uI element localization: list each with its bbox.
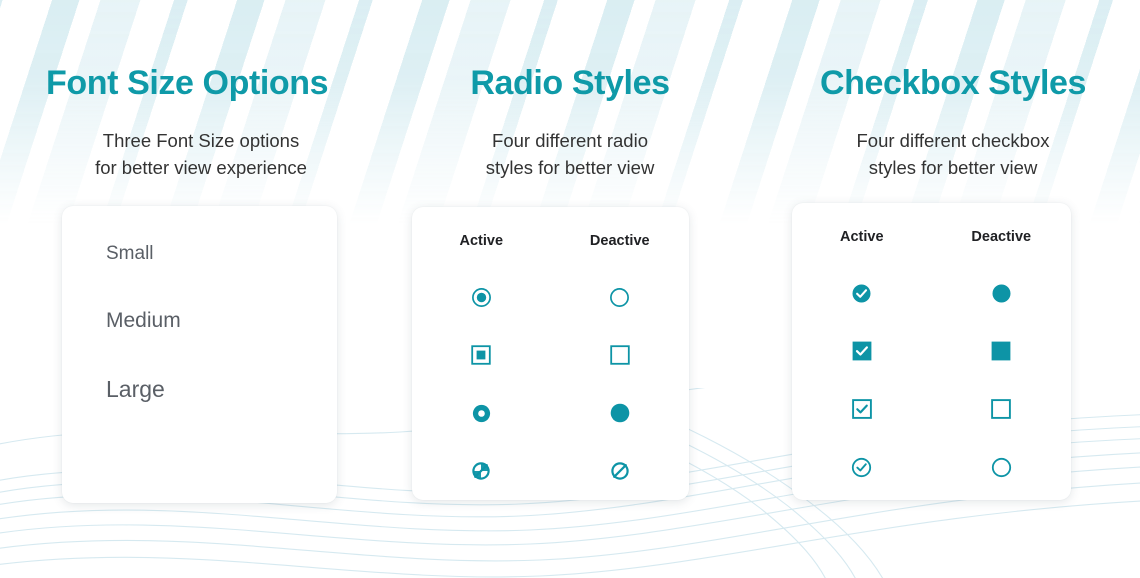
checkbox-style-4-deactive-cell[interactable] xyxy=(932,441,1072,499)
checkbox-style-4-active-cell[interactable] xyxy=(792,441,932,499)
circle-filled-icon[interactable] xyxy=(991,283,1012,304)
column-header-deactive: Deactive xyxy=(932,229,1072,267)
subtitle-font-size: Three Font Size options for better view … xyxy=(44,128,380,181)
radio-style-1-active-cell[interactable] xyxy=(412,271,551,329)
subtitle-checkbox-styles: Four different checkbox styles for bette… xyxy=(792,128,1140,181)
table-header-row: Active Deactive xyxy=(792,229,1071,267)
checkbox-style-3-active-cell[interactable] xyxy=(792,383,932,441)
check-square-outline-icon[interactable] xyxy=(852,399,872,419)
table-row xyxy=(792,441,1071,499)
radio-donut-filled-icon[interactable] xyxy=(471,403,492,424)
column-font-size-options: Font Size Options Three Font Size option… xyxy=(0,0,380,578)
radio-square-empty-icon[interactable] xyxy=(610,345,630,365)
column-checkbox-styles: Checkbox Styles Four different checkbox … xyxy=(760,0,1140,578)
radio-circle-filled-icon[interactable] xyxy=(609,402,631,424)
page-title-font-size: Font Size Options xyxy=(44,64,380,103)
radio-style-1-deactive-cell[interactable] xyxy=(551,271,690,329)
checkbox-style-1-active-cell[interactable] xyxy=(792,267,932,325)
check-circle-filled-icon[interactable] xyxy=(851,283,872,304)
font-size-option-medium[interactable]: Medium xyxy=(106,310,337,331)
table-row xyxy=(412,387,689,445)
radio-styles-table: Active Deactive xyxy=(412,233,689,503)
table-row xyxy=(792,325,1071,383)
radio-style-2-deactive-cell[interactable] xyxy=(551,329,690,387)
table-row xyxy=(412,271,689,329)
radio-style-4-deactive-cell[interactable] xyxy=(551,445,690,503)
table-row xyxy=(792,383,1071,441)
checkbox-styles-table: Active Deactive xyxy=(792,229,1071,499)
column-radio-styles: Radio Styles Four different radio styles… xyxy=(380,0,760,578)
table-header-row: Active Deactive xyxy=(412,233,689,271)
radio-circle-checked-icon[interactable] xyxy=(471,287,492,308)
page-title-checkbox-styles: Checkbox Styles xyxy=(792,64,1140,103)
checkbox-style-2-active-cell[interactable] xyxy=(792,325,932,383)
column-header-deactive: Deactive xyxy=(551,233,690,271)
checkbox-style-2-deactive-cell[interactable] xyxy=(932,325,1072,383)
radio-square-checked-icon[interactable] xyxy=(471,345,491,365)
checkbox-style-1-deactive-cell[interactable] xyxy=(932,267,1072,325)
radio-style-4-active-cell[interactable] xyxy=(412,445,551,503)
font-size-option-small[interactable]: Small xyxy=(106,244,337,263)
radio-styles-card: Active Deactive xyxy=(412,207,689,500)
table-row xyxy=(412,329,689,387)
square-outline-icon[interactable] xyxy=(991,399,1011,419)
checkbox-style-3-deactive-cell[interactable] xyxy=(932,383,1072,441)
font-size-option-large[interactable]: Large xyxy=(106,378,337,401)
check-square-filled-icon[interactable] xyxy=(852,341,872,361)
radio-slashed-empty-icon[interactable] xyxy=(609,460,631,482)
font-size-card: Small Medium Large xyxy=(62,206,337,503)
radio-style-3-active-cell[interactable] xyxy=(412,387,551,445)
radio-style-2-active-cell[interactable] xyxy=(412,329,551,387)
square-filled-icon[interactable] xyxy=(991,341,1011,361)
subtitle-radio-styles: Four different radio styles for better v… xyxy=(410,128,760,181)
circle-outline-icon[interactable] xyxy=(991,457,1012,478)
table-row xyxy=(792,267,1071,325)
page-title-radio-styles: Radio Styles xyxy=(410,64,760,103)
radio-slashed-filled-icon[interactable] xyxy=(470,460,492,482)
table-row xyxy=(412,445,689,503)
check-circle-outline-icon[interactable] xyxy=(851,457,872,478)
column-header-active: Active xyxy=(792,229,932,267)
radio-circle-empty-icon[interactable] xyxy=(609,287,630,308)
column-header-active: Active xyxy=(412,233,551,271)
radio-style-3-deactive-cell[interactable] xyxy=(551,387,690,445)
checkbox-styles-card: Active Deactive xyxy=(792,203,1071,500)
